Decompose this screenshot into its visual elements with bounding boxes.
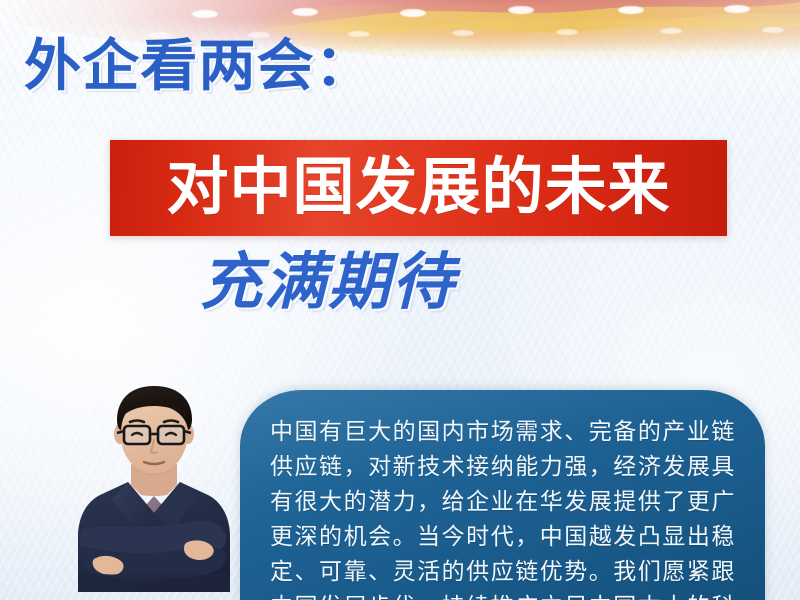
- portrait-photo-businessman: [56, 378, 252, 600]
- red-banner: 对中国发展的未来: [110, 140, 727, 236]
- body-text-card: 中国有巨大的国内市场需求、完备的产业链供应链，对新技术接纳能力强，经济发展具有很…: [240, 390, 765, 600]
- body-paragraph: 中国有巨大的国内市场需求、完备的产业链供应链，对新技术接纳能力强，经济发展具有很…: [270, 414, 735, 600]
- headline-tertiary: 充满期待: [200, 252, 456, 314]
- headline-primary: 外企看两会：: [24, 38, 373, 94]
- poster-root: 外企看两会： 对中国发展的未来 充满期待: [0, 0, 800, 600]
- headline-banner-text: 对中国发展的未来: [166, 157, 670, 219]
- portrait-illustration-icon: [56, 378, 252, 600]
